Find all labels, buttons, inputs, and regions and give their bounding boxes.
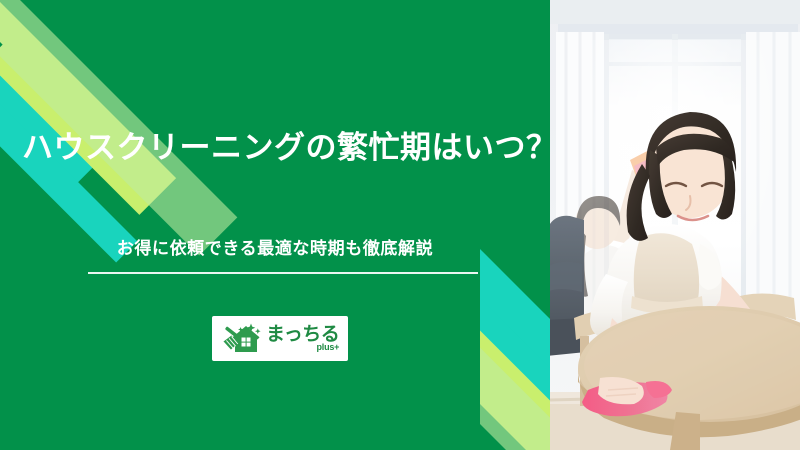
decorative-stripe-teal-top-left-outer xyxy=(0,0,94,199)
decorative-stripe-softgreen-top-left xyxy=(0,0,237,256)
decorative-stripe-lime-top-left xyxy=(0,0,176,215)
brand-logo-text: まっちる plus+ xyxy=(266,325,339,352)
article-thumbnail-banner: ハウスクリーニングの繁忙期はいつ？ お得に依頼できる最適な時期も徹底解説 xyxy=(0,0,800,450)
brand-logo: まっちる plus+ xyxy=(212,316,348,361)
decorative-wedge-green-top-left xyxy=(0,0,3,94)
page-title: ハウスクリーニングの繁忙期はいつ？ xyxy=(22,129,532,166)
page-subtitle: お得に依頼できる最適な時期も徹底解説 xyxy=(0,234,550,259)
green-background-panel: ハウスクリーニングの繁忙期はいつ？ お得に依頼できる最適な時期も徹底解説 xyxy=(0,0,550,450)
hero-photo xyxy=(550,0,800,450)
house-with-broom-and-sparkles-icon xyxy=(219,322,263,356)
title-divider xyxy=(88,272,478,274)
